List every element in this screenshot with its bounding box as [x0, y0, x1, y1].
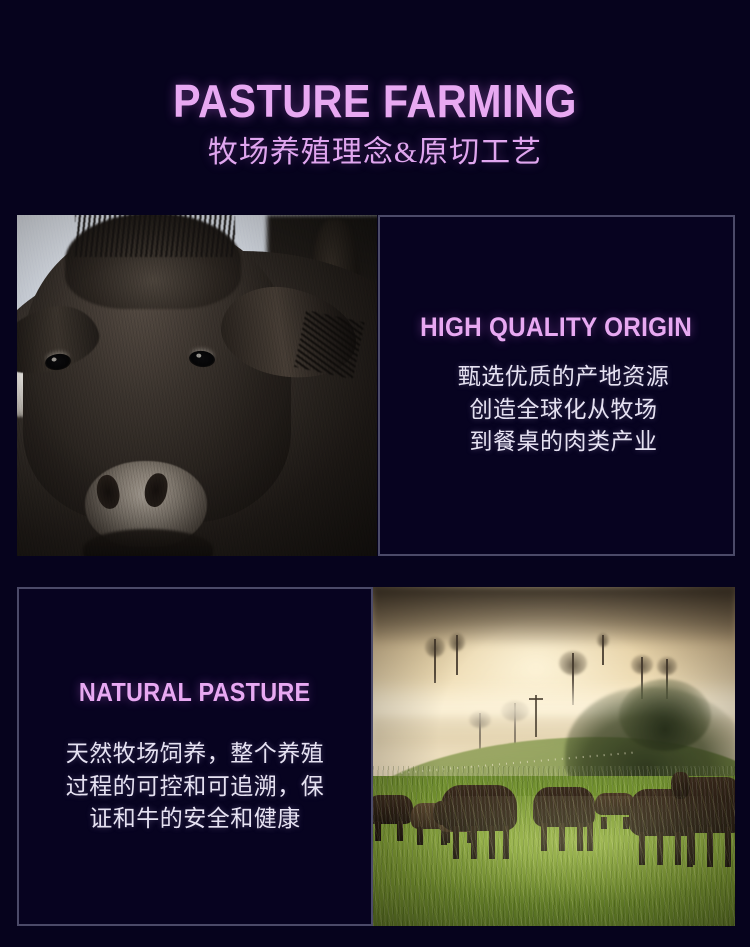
- high-quality-origin-text-panel: HIGH QUALITY ORIGIN 甄选优质的产地资源 创造全球化从牧场 到…: [378, 215, 735, 556]
- section-natural-pasture: NATURAL PASTURE 天然牧场饲养，整个养殖 过程的可控和可追溯，保 …: [17, 587, 735, 926]
- cow-fringe-hair: [75, 215, 235, 257]
- distant-tree: [597, 635, 609, 665]
- panel-body-natural-pasture: 天然牧场饲养，整个养殖 过程的可控和可追溯，保 证和牛的安全和健康: [45, 738, 345, 836]
- cow-right-eye: [188, 350, 216, 369]
- body-line: 天然牧场饲养，整个养殖: [66, 741, 325, 766]
- section-high-quality-origin: HIGH QUALITY ORIGIN 甄选优质的产地资源 创造全球化从牧场 到…: [17, 215, 735, 556]
- grazing-cow: [533, 787, 595, 851]
- grazing-cow: [441, 785, 517, 859]
- page-subtitle: 牧场养殖理念&原切工艺: [0, 138, 750, 168]
- panel-heading-high-quality-origin: HIGH QUALITY ORIGIN: [421, 312, 693, 343]
- distant-tree: [425, 639, 445, 683]
- body-line: 过程的可控和可追溯，保: [66, 774, 325, 799]
- body-line: 创造全球化从牧场: [470, 397, 658, 422]
- body-line: 到餐桌的肉类产业: [470, 429, 658, 454]
- tree-line-secondary: [619, 679, 711, 751]
- body-line: 证和牛的安全和健康: [89, 806, 301, 831]
- cloud-band: [373, 587, 735, 647]
- page-header: PASTURE FARMING 牧场养殖理念&原切工艺: [0, 0, 750, 168]
- distant-tree: [449, 635, 465, 675]
- body-line: 甄选优质的产地资源: [458, 364, 670, 389]
- cow-portrait-photo: [17, 215, 377, 556]
- pasture-landscape-photo: [373, 587, 735, 926]
- utility-pole: [535, 695, 537, 737]
- grazing-cow: [373, 795, 413, 841]
- natural-pasture-text-panel: NATURAL PASTURE 天然牧场饲养，整个养殖 过程的可控和可追溯，保 …: [17, 587, 373, 926]
- grazing-cow: [673, 777, 735, 867]
- cow-head: [23, 223, 291, 523]
- cow-left-ear: [17, 297, 105, 382]
- panel-heading-natural-pasture: NATURAL PASTURE: [79, 677, 311, 708]
- panel-body-high-quality-origin: 甄选优质的产地资源 创造全球化从牧场 到餐桌的肉类产业: [444, 361, 670, 459]
- page-title: PASTURE FARMING: [38, 78, 713, 124]
